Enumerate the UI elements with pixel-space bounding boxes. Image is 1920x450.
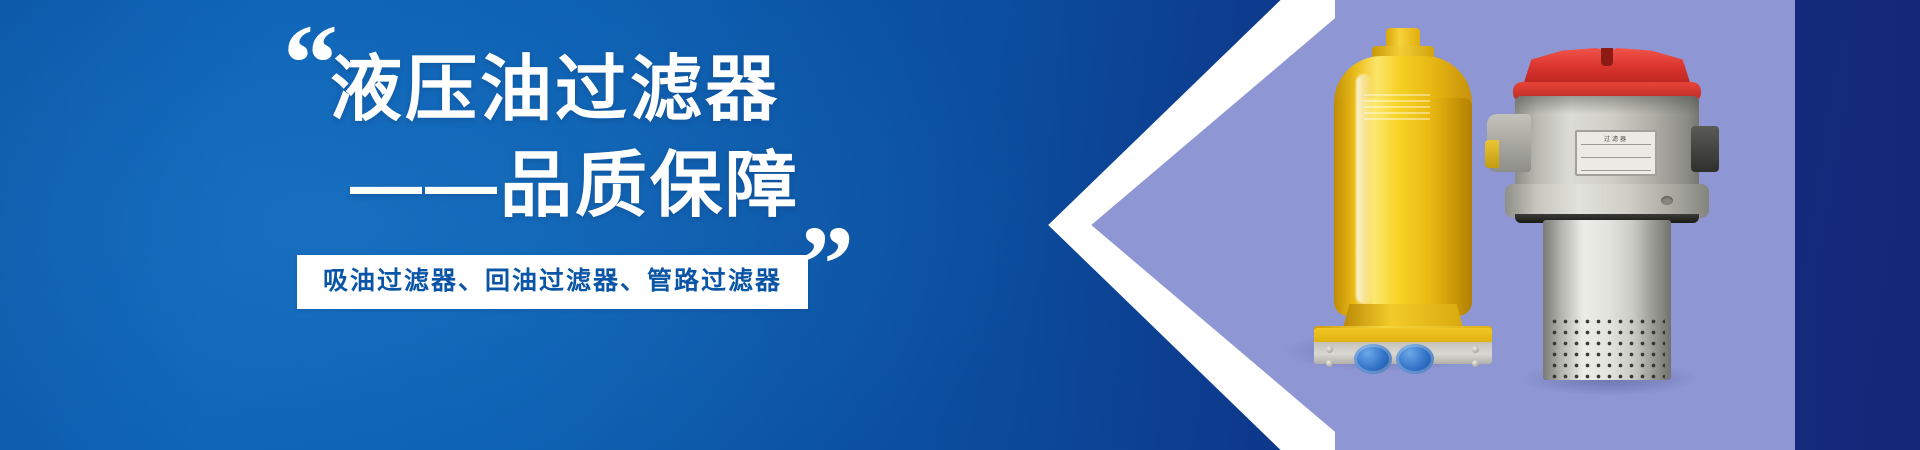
filter-port-outlet [1396, 344, 1434, 374]
headline-line-1: 液压油过滤器 [330, 52, 780, 128]
filter-nameplate: 过滤器 [1575, 130, 1657, 176]
product-yellow-pressure-filter [1290, 28, 1510, 348]
filter-port-inlet [1354, 344, 1392, 374]
filter-highlight [1356, 74, 1372, 304]
filter-body-label [1364, 94, 1430, 120]
filter-cap-notch [1601, 48, 1613, 66]
nameplate-rows [1581, 144, 1651, 171]
subtitle-text: 吸油过滤器、回油过滤器、管路过滤器 [323, 266, 782, 296]
promo-banner: 过滤器 “ 液压油过滤器 ——品质保障 „ 吸油过滤器、回油过滤器、管路过滤器 [0, 0, 1920, 450]
filter-head-shading [1515, 96, 1699, 114]
base-bolt [1326, 360, 1333, 367]
base-bolt [1326, 346, 1333, 353]
subtitle-box: 吸油过滤器、回油过滤器、管路过滤器 [297, 255, 808, 309]
filter-yellow-plug [1485, 140, 1499, 168]
base-bolt [1472, 360, 1479, 367]
filter-mount-flange [1505, 184, 1709, 218]
headline-line-2: ——品质保障 [330, 148, 800, 224]
filter-body [1334, 98, 1472, 316]
element-tube-shading [1543, 220, 1671, 380]
base-bolt [1472, 346, 1479, 353]
close-quote-mark: „ [800, 152, 855, 262]
filter-right-boss [1691, 126, 1719, 172]
nameplate-title: 过滤器 [1577, 134, 1655, 143]
product-return-line-filter: 过滤器 [1485, 48, 1745, 378]
flange-bolt-hole [1661, 196, 1673, 205]
